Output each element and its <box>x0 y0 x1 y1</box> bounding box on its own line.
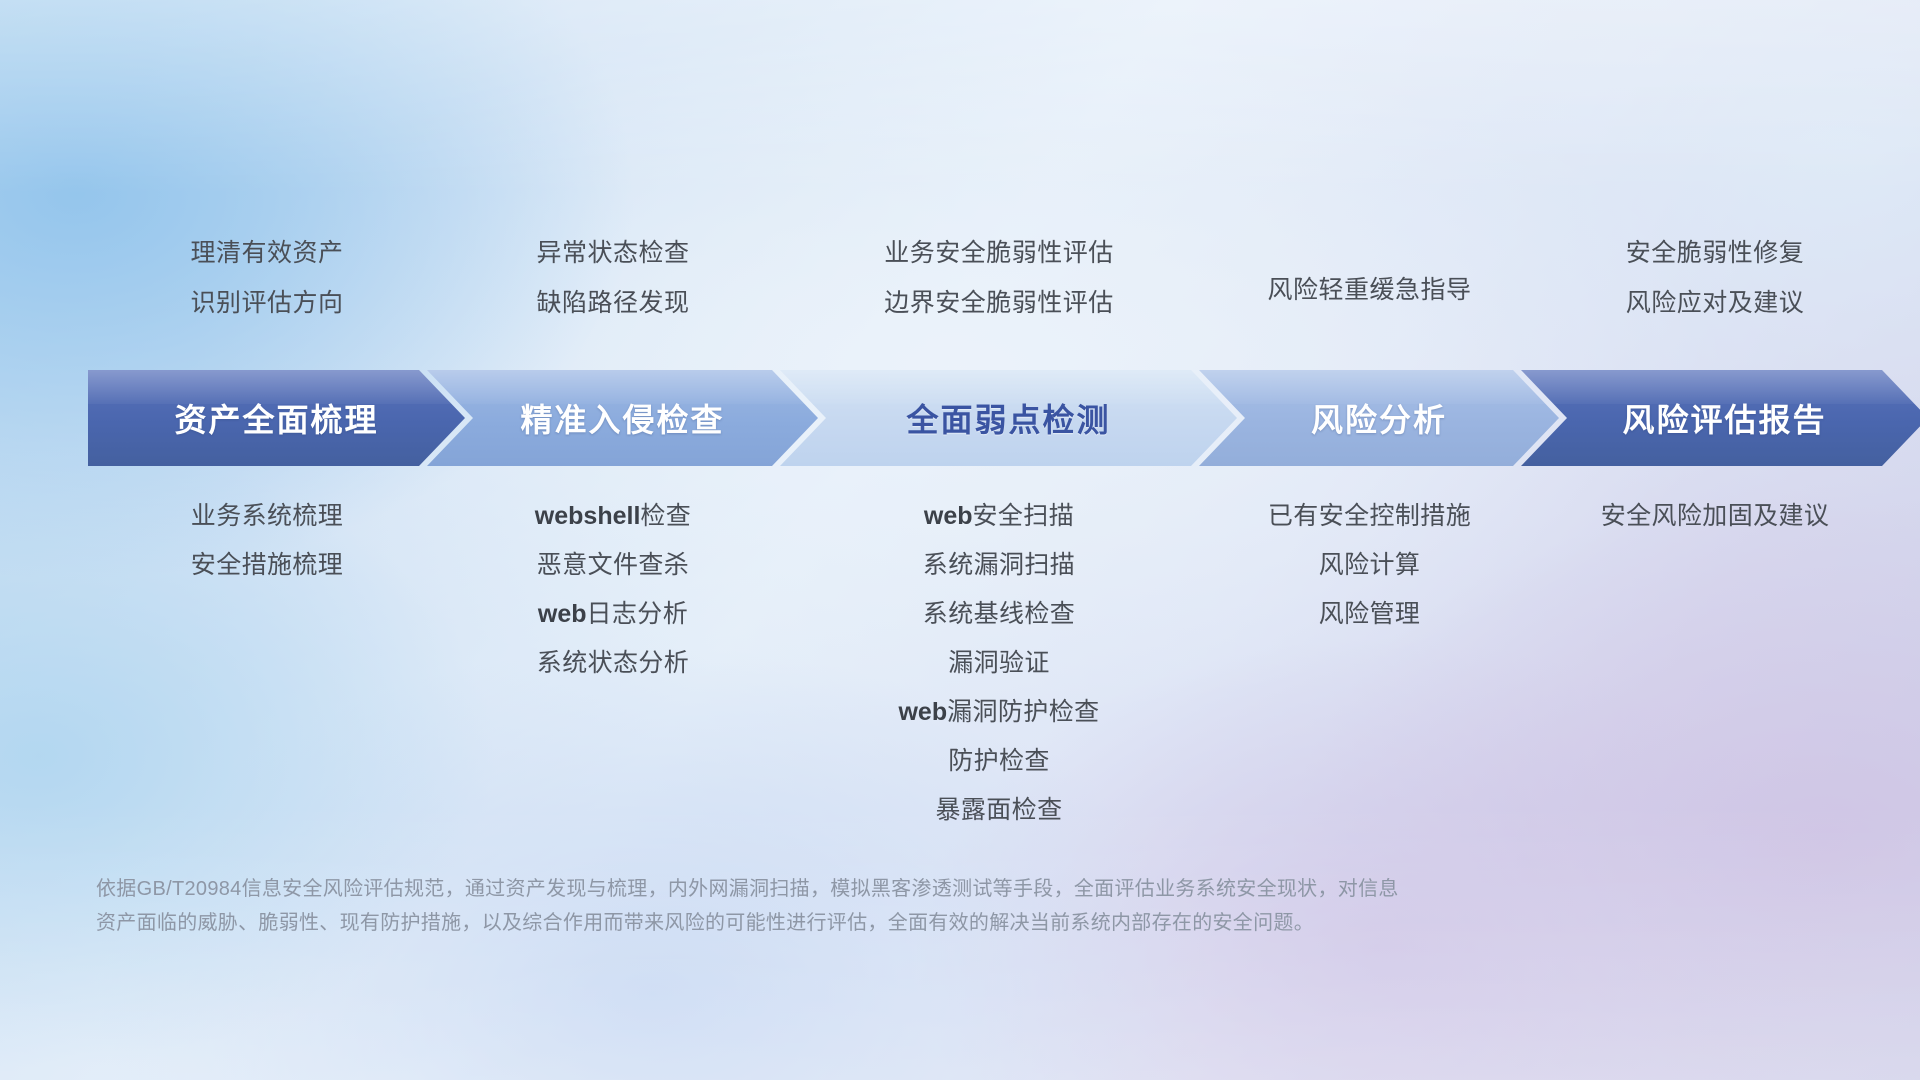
top-labels-weakness-detection: 业务安全脆弱性评估边界安全脆弱性评估 <box>884 228 1114 338</box>
top-label: 理清有效资产 <box>190 228 343 278</box>
top-label: 风险应对及建议 <box>1626 278 1805 328</box>
top-label-row: 理清有效资产识别评估方向异常状态检查缺陷路径发现业务安全脆弱性评估边界安全脆弱性… <box>90 228 1850 338</box>
bottom-item: 系统漏洞扫描 <box>898 541 1099 590</box>
bottom-items-risk-report: 安全风险加固及建议 <box>1601 492 1830 541</box>
footer-description: 依据GB/T20984信息安全风险评估规范，通过资产发现与梳理，内外网漏洞扫描，… <box>96 872 1656 940</box>
bottom-item-prefix: web <box>898 698 947 726</box>
stage-arrow-band: 资产全面梳理精准入侵检查全面弱点检测风险分析风险评估报告 <box>88 370 1850 466</box>
footer-line-1: 依据GB/T20984信息安全风险评估规范，通过资产发现与梳理，内外网漏洞扫描，… <box>96 872 1656 906</box>
stage-arrow-weakness-detection[interactable]: 全面弱点检测 <box>780 370 1237 466</box>
top-label: 风险轻重缓急指导 <box>1267 265 1471 315</box>
bottom-item: web安全扫描 <box>898 492 1099 541</box>
bottom-item: 业务系统梳理 <box>191 492 343 541</box>
stage-arrow-risk-report[interactable]: 风险评估报告 <box>1521 370 1920 466</box>
bottom-item: 风险计算 <box>1268 541 1471 590</box>
stage-arrow-label: 风险分析 <box>1311 395 1447 441</box>
bottom-item: 风险管理 <box>1268 590 1471 639</box>
top-labels-risk-report: 安全脆弱性修复风险应对及建议 <box>1626 228 1805 338</box>
bottom-item: web漏洞防护检查 <box>898 688 1099 737</box>
stage-arrow-label: 精准入侵检查 <box>520 395 724 441</box>
bottom-items-asset-inventory: 业务系统梳理安全措施梳理 <box>191 492 343 590</box>
footer-line-2: 资产面临的威胁、脆弱性、现有防护措施，以及综合作用而带来风险的可能性进行评估，全… <box>96 906 1656 940</box>
bottom-item-prefix: webshell <box>535 502 641 530</box>
top-labels-risk-analysis: 风险轻重缓急指导 <box>1267 228 1471 338</box>
bottom-item: web日志分析 <box>535 590 691 639</box>
bottom-items-risk-analysis: 已有安全控制措施风险计算风险管理 <box>1268 492 1471 639</box>
top-label: 边界安全脆弱性评估 <box>884 278 1114 328</box>
stage-arrow-label: 全面弱点检测 <box>906 395 1110 441</box>
bottom-item-text: 日志分析 <box>587 600 689 628</box>
bottom-item: 防护检查 <box>898 737 1099 786</box>
top-label: 业务安全脆弱性评估 <box>884 228 1114 278</box>
top-label: 识别评估方向 <box>190 278 343 328</box>
top-label: 异常状态检查 <box>536 228 689 278</box>
bottom-item: 系统基线检查 <box>898 590 1099 639</box>
bottom-item-text: 漏洞防护检查 <box>947 698 1099 726</box>
stage-arrow-label: 风险评估报告 <box>1622 395 1826 441</box>
bottom-item-prefix: web <box>538 600 587 628</box>
top-label: 缺陷路径发现 <box>536 278 689 328</box>
bottom-items-weakness-detection: web安全扫描系统漏洞扫描系统基线检查漏洞验证web漏洞防护检查防护检查暴露面检… <box>898 492 1099 835</box>
top-label: 安全脆弱性修复 <box>1626 228 1805 278</box>
stage-arrow-label: 资产全面梳理 <box>174 395 378 441</box>
stage-arrow-asset-inventory[interactable]: 资产全面梳理 <box>88 370 465 466</box>
bottom-item-prefix: web <box>924 502 973 530</box>
top-labels-asset-inventory: 理清有效资产识别评估方向 <box>190 228 343 338</box>
bottom-item: 安全措施梳理 <box>191 541 343 590</box>
bottom-item-text: 检查 <box>640 502 691 530</box>
process-diagram: 理清有效资产识别评估方向异常状态检查缺陷路径发现业务安全脆弱性评估边界安全脆弱性… <box>0 0 1920 1080</box>
stage-arrow-intrusion-check[interactable]: 精准入侵检查 <box>427 370 818 466</box>
bottom-item: 恶意文件查杀 <box>535 541 691 590</box>
bottom-item: 漏洞验证 <box>898 639 1099 688</box>
bottom-items-intrusion-check: webshell检查恶意文件查杀web日志分析系统状态分析 <box>535 492 691 688</box>
bottom-item-text: 安全扫描 <box>973 502 1075 530</box>
bottom-item: webshell检查 <box>535 492 691 541</box>
top-labels-intrusion-check: 异常状态检查缺陷路径发现 <box>536 228 689 338</box>
bottom-item: 系统状态分析 <box>535 639 691 688</box>
bottom-item: 暴露面检查 <box>898 786 1099 835</box>
bottom-item: 安全风险加固及建议 <box>1601 492 1830 541</box>
stage-arrow-risk-analysis[interactable]: 风险分析 <box>1199 370 1559 466</box>
bottom-item: 已有安全控制措施 <box>1268 492 1471 541</box>
